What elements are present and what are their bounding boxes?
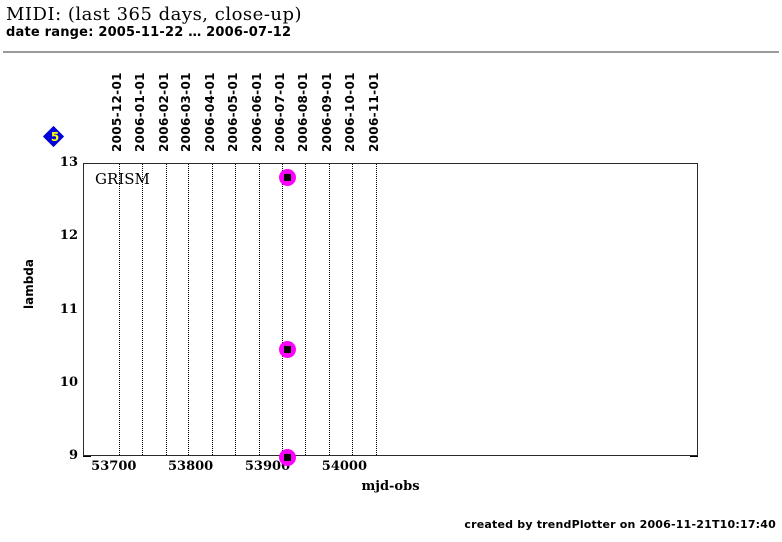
- x-axis-title: mjd-obs: [83, 479, 698, 494]
- footer-credit: created by trendPlotter on 2006-11-21T10…: [464, 518, 776, 531]
- date-label-2006-09-01: 2006-09-01: [321, 72, 333, 152]
- y-tick-label: 10: [60, 376, 78, 389]
- y-tick-major-right: [690, 456, 698, 457]
- date-label-2006-01-01: 2006-01-01: [134, 72, 146, 152]
- y-tick-label: 9: [69, 449, 78, 462]
- date-range-subtitle: date range: 2005-11-22 … 2006-07-12: [6, 25, 776, 40]
- y-tick-major: [83, 456, 91, 457]
- page-title: MIDI: (last 365 days, close-up): [6, 4, 776, 25]
- x-tick-label: 54000: [322, 459, 367, 474]
- date-label-2006-07-01: 2006-07-01: [274, 72, 286, 152]
- date-label-2006-03-01: 2006-03-01: [180, 72, 192, 152]
- plot-annotations: GRISM: [84, 164, 697, 455]
- date-label-2006-04-01: 2006-04-01: [204, 72, 216, 152]
- date-label-2006-08-01: 2006-08-01: [297, 72, 309, 152]
- y-tick-label: 12: [60, 229, 78, 242]
- x-tick-label: 53700: [91, 459, 136, 474]
- date-label-2005-12-01: 2005-12-01: [111, 72, 123, 152]
- date-label-2006-05-01: 2006-05-01: [227, 72, 239, 152]
- x-tick-label: 53800: [168, 459, 213, 474]
- date-label-2006-10-01: 2006-10-01: [344, 72, 356, 152]
- plot-area: GRISM: [83, 163, 698, 456]
- header-divider: [3, 51, 779, 53]
- y-tick-label: 13: [60, 156, 78, 169]
- date-label-2006-06-01: 2006-06-01: [251, 72, 263, 152]
- date-gridline-labels: 2005-12-012006-01-012006-02-012006-03-01…: [0, 80, 782, 152]
- y-tick-label: 11: [60, 303, 78, 316]
- annotation-grism: GRISM: [95, 170, 150, 188]
- date-label-2006-11-01: 2006-11-01: [368, 72, 380, 152]
- y-axis-title: lambda: [22, 259, 36, 309]
- chart-header: MIDI: (last 365 days, close-up) date ran…: [6, 4, 776, 40]
- date-label-2006-02-01: 2006-02-01: [158, 72, 170, 152]
